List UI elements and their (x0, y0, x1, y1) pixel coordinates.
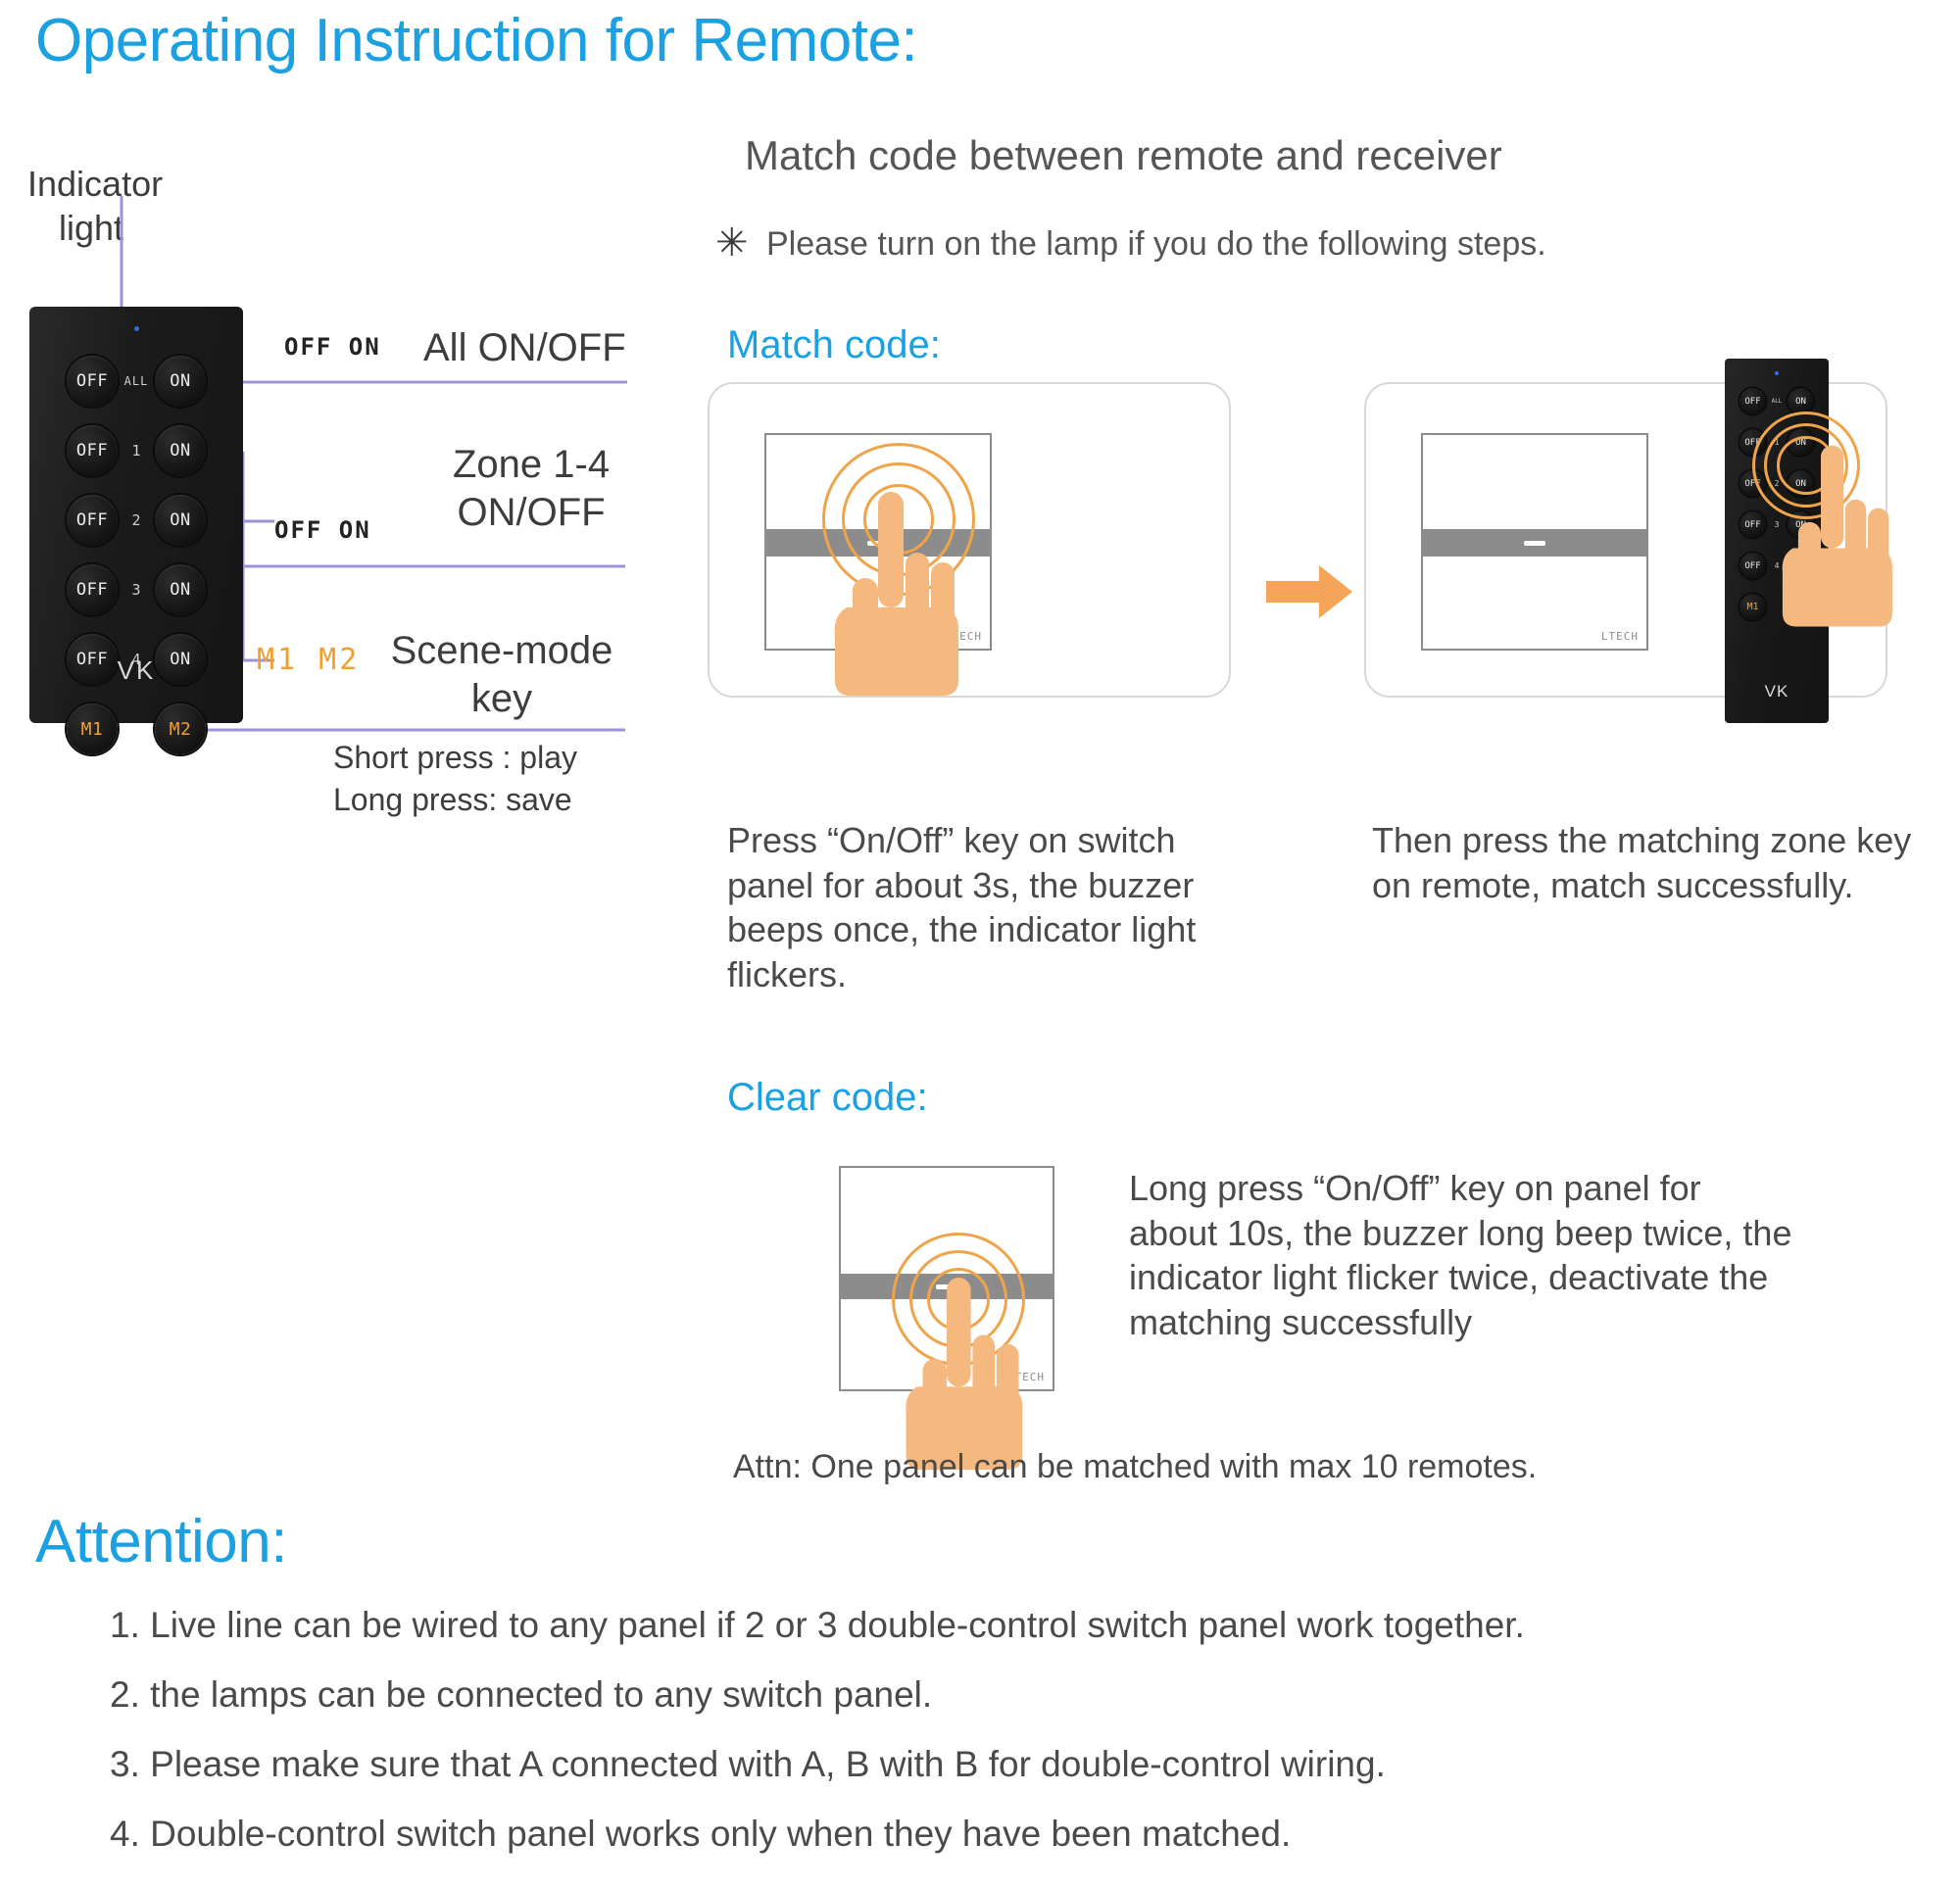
remote-row-3: OFF 3 ON (29, 562, 243, 617)
indicator-light-label: Indicator light (27, 162, 163, 250)
key-on-3[interactable]: ON (155, 564, 206, 615)
callout-scene-mode: Scene-mode key (384, 627, 619, 723)
zone-label-3: 3 (118, 581, 155, 599)
callout-zone-line1: Zone 1-4 (453, 443, 610, 486)
remote-row-memory: M1 M2 (29, 702, 243, 756)
clear-code-title: Clear code: (727, 1076, 928, 1120)
scene-keys-marker: M1 M2 (257, 643, 360, 677)
callout-scene-line2: key (384, 675, 619, 723)
zone-label-all: ALL (118, 374, 155, 388)
attention-list: 1. Live line can be wired to any panel i… (110, 1607, 1525, 1885)
attention-item-4: 4. Double-control switch panel works onl… (110, 1816, 1525, 1852)
attention-title: Attention: (35, 1507, 287, 1576)
zone-label-1: 1 (118, 442, 155, 460)
callout-all-onoff: All ON/OFF (423, 326, 626, 370)
scene-press-notes: Short press : play Long press: save (333, 737, 577, 820)
remote-control-illustration: OFF ALL ON OFF 1 ON OFF 2 ON OFF 3 ON OF… (29, 307, 243, 723)
key-on-1[interactable]: ON (155, 425, 206, 476)
remote-led-2 (1775, 371, 1779, 375)
attention-item-1: 1. Live line can be wired to any panel i… (110, 1607, 1525, 1643)
clear-code-illustration: LTECH (839, 1166, 1054, 1391)
step-arrow-icon (1266, 563, 1352, 620)
mini-zone-all-2: ALL (1766, 398, 1788, 405)
indicator-light-led (134, 326, 139, 331)
asterisk-icon: ✳ (715, 220, 749, 266)
key-m2[interactable]: M2 (155, 703, 206, 754)
all-onoff-marker: OFF ON (284, 333, 381, 361)
step2-description: Then press the matching zone key on remo… (1372, 818, 1921, 907)
mini-key-on-all-2[interactable]: ON (1788, 388, 1814, 414)
short-press-note: Short press : play (333, 737, 577, 779)
match-section-heading: Match code between remote and receiver (745, 132, 1502, 179)
match-code-title: Match code: (727, 323, 941, 367)
match-code-step2-card: LTECH OFF ALL ON OFF 1 ON OFF 2 ON OFF 3… (1364, 382, 1887, 698)
mini-key-off-all-2[interactable]: OFF (1739, 388, 1766, 414)
key-on-all[interactable]: ON (155, 356, 206, 407)
switch-panel-dash-2 (1524, 541, 1545, 546)
attention-item-3: 3. Please make sure that A connected wit… (110, 1746, 1525, 1782)
callout-zone-line2: ON/OFF (453, 489, 610, 537)
key-m1[interactable]: M1 (67, 703, 118, 754)
attn-note: Attn: One panel can be matched with max … (733, 1448, 1537, 1486)
indicator-label-line2: light (27, 206, 163, 250)
mini-remote-brand-2: VK (1725, 682, 1829, 702)
pointing-hand-icon-2 (1758, 445, 1915, 629)
key-off-3[interactable]: OFF (67, 564, 118, 615)
clear-code-description: Long press “On/Off” key on panel for abo… (1129, 1166, 1795, 1345)
key-off-1[interactable]: OFF (67, 425, 118, 476)
pointing-hand-icon-1 (808, 492, 984, 698)
remote-row-1: OFF 1 ON (29, 423, 243, 478)
match-section-note: Please turn on the lamp if you do the fo… (766, 225, 1546, 264)
step1-description: Press “On/Off” key on switch panel for a… (727, 818, 1237, 997)
key-off-2[interactable]: OFF (67, 495, 118, 546)
callout-zone-onoff: Zone 1-4 ON/OFF (453, 441, 610, 537)
switch-panel-touch-bar-2[interactable] (1423, 529, 1646, 557)
zone-label-2: 2 (118, 511, 155, 529)
attention-item-2: 2. the lamps can be connected to any swi… (110, 1676, 1525, 1713)
pointing-hand-icon-3 (880, 1278, 1047, 1472)
indicator-label-line1: Indicator (27, 164, 163, 204)
remote-row-all: OFF ALL ON (29, 354, 243, 409)
page-title: Operating Instruction for Remote: (35, 6, 917, 75)
key-off-all[interactable]: OFF (67, 356, 118, 407)
remote-brand-label: VK (29, 655, 243, 686)
ltech-logo-2: LTECH (1601, 630, 1639, 643)
match-code-step1-card: LTECH (708, 382, 1231, 698)
long-press-note: Long press: save (333, 779, 577, 821)
callout-scene-line1: Scene-mode (391, 629, 613, 672)
remote-row-2: OFF 2 ON (29, 493, 243, 548)
zone-onoff-marker: OFF ON (274, 516, 371, 544)
switch-panel-illustration-2: LTECH (1421, 433, 1648, 651)
key-on-2[interactable]: ON (155, 495, 206, 546)
